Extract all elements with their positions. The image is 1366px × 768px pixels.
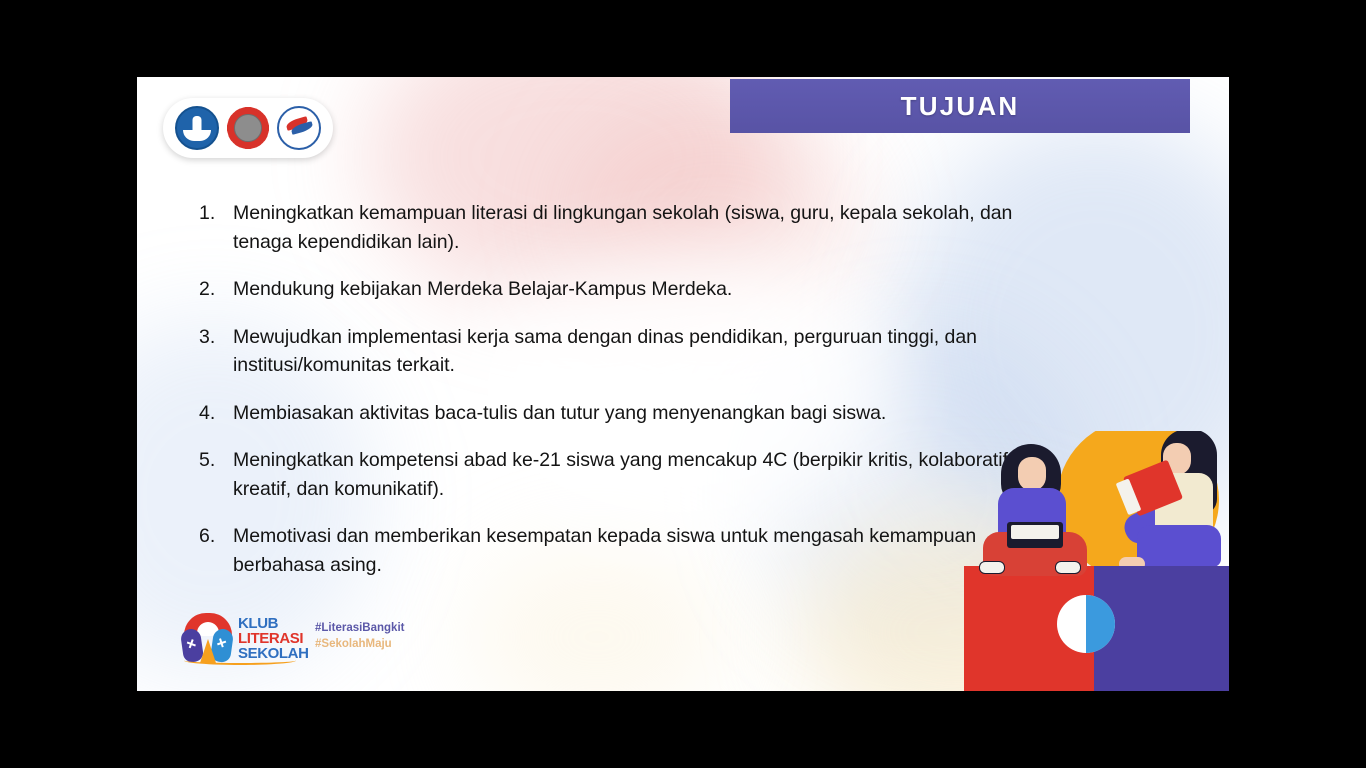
two-women-reading-illustration [929, 431, 1229, 691]
list-item: 5. Meningkatkan kompetensi abad ke-21 si… [199, 446, 1029, 503]
figure-reading-left [977, 444, 1095, 576]
hashtag-group: #LiterasiBangkit #SekolahMaju [315, 620, 404, 658]
list-item-text: Memotivasi dan memberikan kesempatan kep… [233, 522, 1029, 579]
list-item-text: Mewujudkan implementasi kerja sama denga… [233, 323, 1029, 380]
hashtag-literasi-bangkit: #LiterasiBangkit [315, 620, 404, 636]
page-title: TUJUAN [901, 91, 1020, 122]
institution-logos [163, 98, 333, 158]
hashtag-sekolah-maju: #SekolahMaju [315, 636, 404, 652]
list-item: 6. Memotivasi dan memberikan kesempatan … [199, 522, 1029, 579]
list-item-number: 5. [199, 446, 233, 503]
list-item-text: Mendukung kebijakan Merdeka Belajar-Kamp… [233, 275, 732, 304]
list-item-number: 2. [199, 275, 233, 304]
list-item: 3. Mewujudkan implementasi kerja sama de… [199, 323, 1029, 380]
list-item-number: 6. [199, 522, 233, 579]
screen-canvas: TUJUAN 1. Meningkatkan kemampuan literas… [0, 0, 1366, 768]
list-item: 2. Mendukung kebijakan Merdeka Belajar-K… [199, 275, 1029, 304]
brand-word-klub: KLUB [238, 616, 309, 631]
gear-icon [226, 106, 270, 150]
figure-reading-right [1113, 431, 1223, 579]
klub-literasi-sekolah-logo-icon: KLUB LITERASI SEKOLAH [180, 613, 302, 665]
slide-title-bar: TUJUAN [730, 79, 1190, 133]
brand-word-literasi: LITERASI [238, 631, 309, 646]
list-item-number: 1. [199, 199, 233, 256]
list-item-text: Meningkatkan kemampuan literasi di lingk… [233, 199, 1029, 256]
slide: TUJUAN 1. Meningkatkan kemampuan literas… [137, 77, 1229, 691]
list-item-text: Membiasakan aktivitas baca-tulis dan tut… [233, 399, 886, 428]
list-item-text: Meningkatkan kompetensi abad ke-21 siswa… [233, 446, 1029, 503]
swoosh-logo-icon [277, 106, 321, 150]
tut-wuri-handayani-icon [175, 106, 219, 150]
list-item: 4. Membiasakan aktivitas baca-tulis dan … [199, 399, 1029, 428]
list-item: 1. Meningkatkan kemampuan literasi di li… [199, 199, 1029, 256]
list-item-number: 3. [199, 323, 233, 380]
list-item-number: 4. [199, 399, 233, 428]
brand-wordmark: KLUB LITERASI SEKOLAH [238, 616, 309, 661]
brand-footer: KLUB LITERASI SEKOLAH #LiterasiBangkit #… [180, 613, 404, 665]
objectives-list: 1. Meningkatkan kemampuan literasi di li… [199, 199, 1029, 598]
